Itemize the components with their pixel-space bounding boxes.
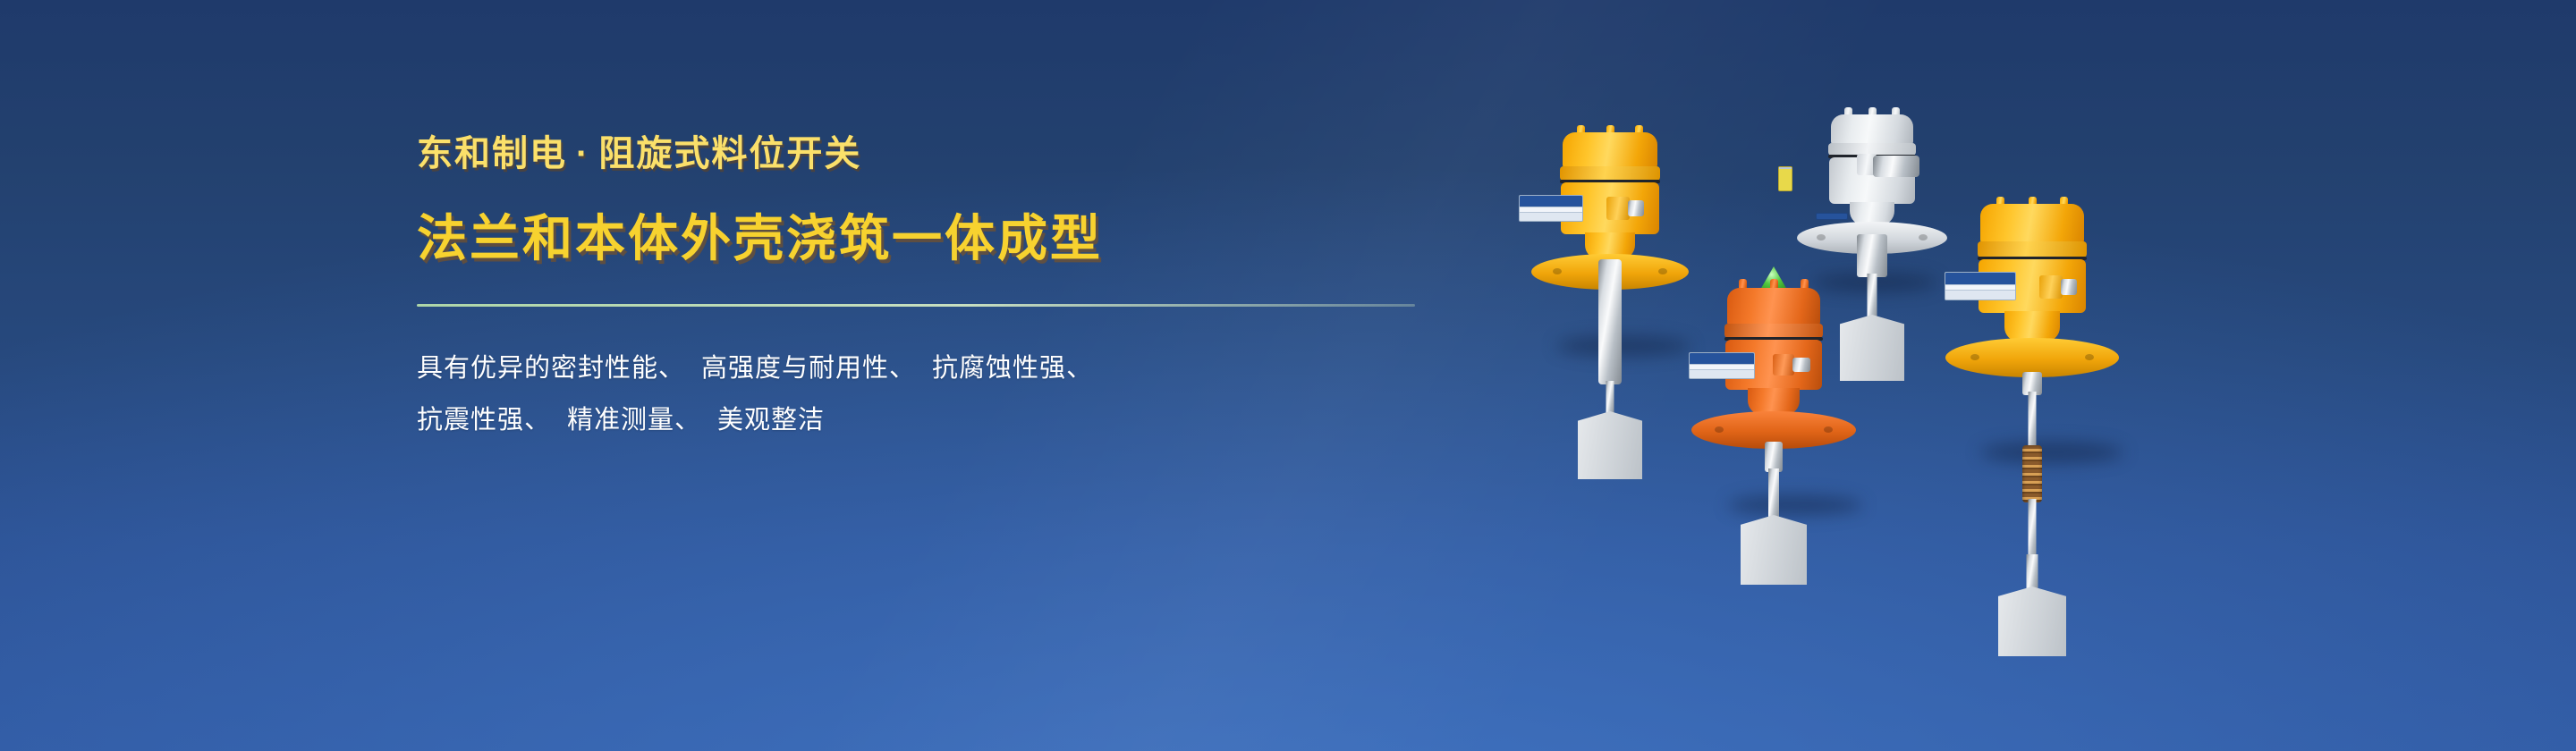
feature-6: 美观整洁 [717, 406, 825, 435]
cable-gland [2061, 279, 2077, 295]
product-unit-yellow-spring [1916, 197, 2148, 662]
extension-tube [1598, 259, 1622, 384]
feature-3: 抗腐蚀性强、 [932, 354, 1093, 383]
cable-gland [1628, 200, 1644, 216]
coupling-body [1857, 234, 1887, 277]
eyebrow-product: 阻旋式料位开关 [598, 134, 861, 173]
nameplate-label [1519, 195, 1583, 222]
feature-5: 精准测量、 [567, 406, 701, 435]
nameplate-label [1689, 352, 1755, 379]
banner-eyebrow: 东和制电·阻旋式料位开关 [417, 134, 1454, 173]
conduit-entry [1606, 197, 1630, 220]
paddle-stem [1768, 468, 1779, 522]
feature-line-1: 具有优异的密封性能、高强度与耐用性、抗腐蚀性强、 [417, 342, 1454, 394]
measuring-paddle [1741, 515, 1807, 585]
product-cluster [1476, 107, 2173, 626]
coupling-body [1765, 442, 1783, 472]
product-unit-orange [1662, 277, 1885, 662]
nameplate-label [1945, 272, 2016, 300]
tension-spring [2022, 445, 2042, 502]
model-strip [1816, 213, 1848, 220]
measuring-paddle [1578, 411, 1642, 479]
divider-rule [417, 304, 1415, 307]
banner-features: 具有优异的密封性能、高强度与耐用性、抗腐蚀性强、 抗震性强、精准测量、美观整洁 [417, 342, 1454, 446]
cable-gland [1873, 156, 1919, 177]
eyebrow-brand: 东和制电 [417, 134, 567, 173]
conduit-entry [2039, 275, 2063, 299]
tag-sticker [1778, 166, 1792, 191]
feature-1: 具有优异的密封性能、 [417, 354, 685, 383]
hero-banner: 东和制电·阻旋式料位开关 法兰和本体外壳浇筑一体成型 具有优异的密封性能、高强度… [0, 0, 2576, 751]
feature-2: 高强度与耐用性、 [701, 354, 916, 383]
cable-gland [1792, 358, 1810, 372]
eyebrow-separator-dot: · [567, 134, 598, 173]
feature-4: 抗震性强、 [417, 406, 551, 435]
feature-line-2: 抗震性强、精准测量、美观整洁 [417, 394, 1454, 446]
banner-headline: 法兰和本体外壳浇筑一体成型 [417, 211, 1454, 266]
measuring-paddle [1998, 586, 2066, 656]
banner-copy: 东和制电·阻旋式料位开关 法兰和本体外壳浇筑一体成型 具有优异的密封性能、高强度… [417, 134, 1454, 446]
conduit-entry [1773, 354, 1794, 375]
